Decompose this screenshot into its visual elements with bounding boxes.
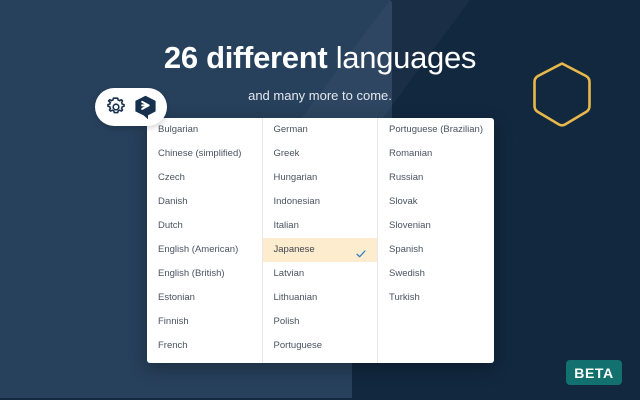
language-column-3: Portuguese (Brazilian) Romanian Russian … [377, 118, 494, 363]
language-item[interactable]: Portuguese [263, 334, 378, 358]
language-item[interactable]: Swedish [378, 262, 494, 286]
language-label: Slovenian [389, 214, 431, 238]
language-item[interactable]: Slovenian [378, 214, 494, 238]
language-label: Spanish [389, 238, 423, 262]
share-badge-icon[interactable] [134, 95, 157, 120]
language-item[interactable]: Czech [147, 166, 262, 190]
language-item[interactable]: Hungarian [263, 166, 378, 190]
language-label: Italian [274, 214, 299, 238]
language-label: Latvian [274, 262, 305, 286]
language-label: Bulgarian [158, 118, 198, 142]
language-item[interactable]: English (American) [147, 238, 262, 262]
language-column-1: Bulgarian Chinese (simplified) Czech Dan… [147, 118, 262, 363]
language-item[interactable]: Italian [263, 214, 378, 238]
language-label: Greek [274, 142, 300, 166]
language-item[interactable]: Greek [263, 142, 378, 166]
check-icon [356, 245, 366, 255]
language-label: German [274, 118, 308, 142]
language-label: Portuguese [274, 334, 323, 358]
language-label: French [158, 334, 188, 358]
screenshot-stage: 26 different languages and many more to … [0, 0, 640, 400]
language-column-2: German Greek Hungarian Indonesian Italia… [262, 118, 378, 363]
language-item[interactable]: Danish [147, 190, 262, 214]
language-item[interactable]: Portuguese (Brazilian) [378, 118, 494, 142]
language-item[interactable]: Russian [378, 166, 494, 190]
icon-pill[interactable] [95, 88, 167, 126]
page-title: 26 different languages [0, 41, 640, 75]
language-item[interactable]: French [147, 334, 262, 358]
language-label: Romanian [389, 142, 432, 166]
language-item[interactable]: English (British) [147, 262, 262, 286]
language-list-card[interactable]: Bulgarian Chinese (simplified) Czech Dan… [147, 118, 494, 363]
language-label: Japanese [274, 238, 315, 262]
language-label: Czech [158, 166, 185, 190]
language-item-selected[interactable]: Japanese [263, 238, 378, 262]
language-label: Polish [274, 310, 300, 334]
page-title-strong: 26 different [164, 40, 328, 75]
language-item[interactable]: Polish [263, 310, 378, 334]
language-item[interactable]: Finnish [147, 310, 262, 334]
language-label: Slovak [389, 190, 418, 214]
language-item[interactable]: Lithuanian [263, 286, 378, 310]
language-label: Portuguese (Brazilian) [389, 118, 483, 142]
language-item[interactable]: Slovak [378, 190, 494, 214]
language-item[interactable]: Romanian [378, 142, 494, 166]
language-item[interactable]: Spanish [378, 238, 494, 262]
language-item[interactable]: Chinese (simplified) [147, 142, 262, 166]
language-label: Turkish [389, 286, 420, 310]
language-item[interactable]: Estonian [147, 286, 262, 310]
language-label: Chinese (simplified) [158, 142, 241, 166]
language-item[interactable]: Dutch [147, 214, 262, 238]
language-item[interactable]: Indonesian [263, 190, 378, 214]
language-label: Finnish [158, 310, 189, 334]
language-label: Estonian [158, 286, 195, 310]
language-label: English (American) [158, 238, 238, 262]
language-label: Dutch [158, 214, 183, 238]
gear-icon[interactable] [105, 96, 127, 118]
language-label: Danish [158, 190, 188, 214]
language-label: Lithuanian [274, 286, 318, 310]
language-item[interactable]: Bulgarian [147, 118, 262, 142]
language-item[interactable]: German [263, 118, 378, 142]
language-label: Swedish [389, 262, 425, 286]
language-label: English (British) [158, 262, 225, 286]
language-label: Russian [389, 166, 423, 190]
language-label: Indonesian [274, 190, 320, 214]
status-badge: BETA [566, 360, 622, 385]
page-title-light: languages [336, 40, 476, 75]
language-item[interactable]: Latvian [263, 262, 378, 286]
language-label: Hungarian [274, 166, 318, 190]
language-item[interactable]: Turkish [378, 286, 494, 310]
